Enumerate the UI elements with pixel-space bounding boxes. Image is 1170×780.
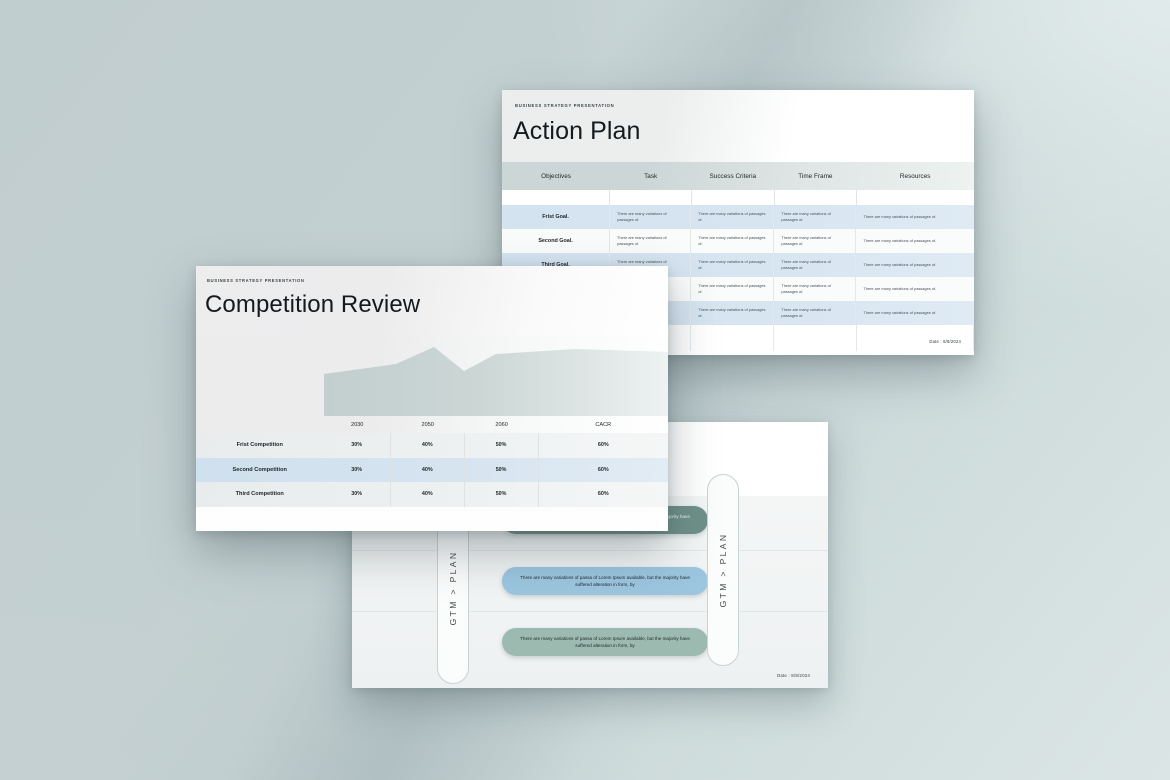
row-cell-resources: There are many variations of passages of… <box>856 301 974 325</box>
column-header-success-criteria: Success Criteria <box>691 173 774 180</box>
row-label: Second Competition <box>196 458 323 483</box>
table-row[interactable]: Second Competition 30% 40% 50% 60% <box>196 458 668 483</box>
table-top-spacer <box>502 190 974 205</box>
action-plan-kicker: BUSINESS STRATEGY PRESENTATION <box>515 103 614 108</box>
row-value-2060: 50% <box>465 482 539 507</box>
row-label: Frist Competition <box>196 433 323 458</box>
column-header-time-frame: Time Frame <box>774 173 856 180</box>
table-row[interactable]: Second Goal. There are many variations o… <box>502 229 974 253</box>
competition-header: BUSINESS STRATEGY PRESENTATION Competiti… <box>196 266 668 336</box>
row-value-2050: 40% <box>391 458 465 483</box>
row-value-cacr: 60% <box>539 482 668 507</box>
row-cell-success: There are many variations of passages of… <box>691 277 774 301</box>
action-plan-header: BUSINESS STRATEGY PRESENTATION Action Pl… <box>502 90 974 162</box>
row-value-cacr: 60% <box>539 458 668 483</box>
row-cell-timeframe: There are many variations of passages of… <box>774 277 856 301</box>
column-header-objectives: Objectives <box>502 173 610 180</box>
axis-tick-2050: 2050 <box>391 422 465 428</box>
table-row[interactable]: Frist Competition 30% 40% 50% 60% <box>196 433 668 458</box>
gtm-rail-right-label: GTM > PLAN <box>718 533 728 608</box>
gtm-rail-left-label: GTM > PLAN <box>448 551 458 626</box>
row-cell-success: There are many variations of passages of… <box>691 229 774 253</box>
gtm-rail-right: GTM > PLAN <box>707 474 739 666</box>
row-cell-timeframe: There are many variations of passages of… <box>774 205 856 229</box>
row-goal-label: Frist Goal. <box>502 205 610 229</box>
row-cell-success: There are many variations of passages of… <box>691 253 774 277</box>
row-value-cacr: 60% <box>539 433 668 458</box>
action-plan-column-header: Objectives Task Success Criteria Time Fr… <box>502 162 974 190</box>
row-cell-task: There are many variations of passages of… <box>610 205 691 229</box>
competition-footer: Date : 8/8/2024 <box>196 507 668 532</box>
row-cell-resources: There are many variations of passages of… <box>856 277 974 301</box>
action-plan-title: Action Plan <box>513 117 641 146</box>
row-value-2060: 50% <box>465 458 539 483</box>
area-chart-svg <box>196 336 668 416</box>
competition-axis-labels: 2030 2050 2060 CACR <box>196 416 668 433</box>
row-cell-timeframe: There are many variations of passages of… <box>774 301 856 325</box>
row-cell-success: There are many variations of passages of… <box>691 301 774 325</box>
row-value-2060: 50% <box>465 433 539 458</box>
row-cell-timeframe: There are many variations of passages of… <box>774 229 856 253</box>
row-value-2050: 40% <box>391 433 465 458</box>
table-row[interactable]: Third Competition 30% 40% 50% 60% <box>196 482 668 507</box>
gtm-date: Date : 8/8/2024 <box>777 673 810 678</box>
gtm-row[interactable]: There are many variations of passa of Lo… <box>352 612 828 672</box>
column-header-task: Task <box>610 173 691 180</box>
table-row[interactable]: Frist Goal. There are many variations of… <box>502 205 974 229</box>
column-header-resources: Resources <box>856 173 974 180</box>
competition-table: Frist Competition 30% 40% 50% 60% Second… <box>196 433 668 507</box>
slide-competition-review[interactable]: BUSINESS STRATEGY PRESENTATION Competiti… <box>196 266 668 531</box>
competition-title: Competition Review <box>205 291 420 319</box>
axis-tick-2060: 2060 <box>465 422 539 428</box>
gtm-pill-3[interactable]: There are many variations of passa of Lo… <box>502 628 708 656</box>
action-plan-date: Date : 8/8/2024 <box>929 339 961 344</box>
axis-tick-2030: 2030 <box>323 422 390 428</box>
row-value-2030: 30% <box>323 482 390 507</box>
row-cell-success: There are many variations of passages of… <box>691 205 774 229</box>
gtm-row[interactable]: There are many variations of passa of Lo… <box>352 551 828 612</box>
row-cell-resources: There are many variations of passages of… <box>856 205 974 229</box>
row-cell-task: There are many variations of passages of… <box>610 229 691 253</box>
row-value-2030: 30% <box>323 458 390 483</box>
row-goal-label: Second Goal. <box>502 229 610 253</box>
row-cell-resources: There are many variations of passages of… <box>856 253 974 277</box>
row-value-2050: 40% <box>391 482 465 507</box>
area-chart-polygon <box>324 347 668 416</box>
axis-tick-cacr: CACR <box>539 422 668 428</box>
row-label: Third Competition <box>196 482 323 507</box>
competition-kicker: BUSINESS STRATEGY PRESENTATION <box>207 278 305 283</box>
row-value-2030: 30% <box>323 433 390 458</box>
row-cell-resources: There are many variations of passages of… <box>856 229 974 253</box>
competition-area-chart <box>196 336 668 416</box>
row-cell-timeframe: There are many variations of passages of… <box>774 253 856 277</box>
gtm-pill-2[interactable]: There are many variations of passa of Lo… <box>502 567 708 595</box>
